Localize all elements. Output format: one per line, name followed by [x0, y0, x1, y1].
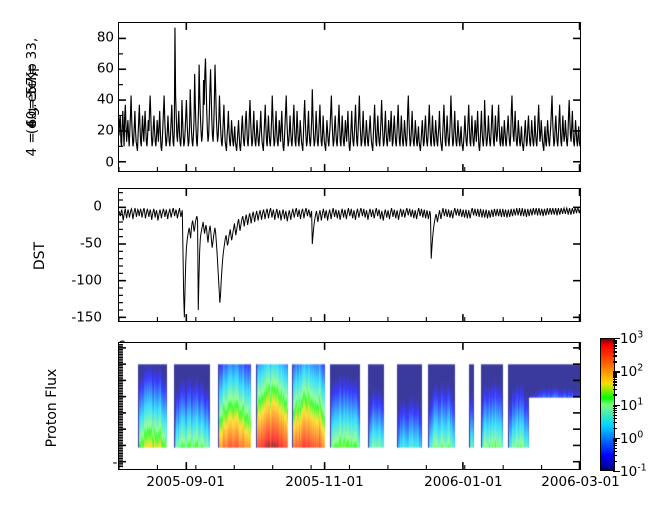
flux-plot-ticks: [119, 343, 580, 469]
colorbar-tick-label: 102: [620, 363, 643, 381]
xtick-label: 2005-11-01: [285, 474, 363, 490]
dst-ytick-labels: 0-50-100-150: [62, 188, 102, 322]
colorbar-minor-tick: [613, 441, 617, 442]
colorbar-minor-tick: [613, 376, 617, 377]
colorbar-minor-tick: [613, 443, 617, 444]
colorbar-tick-label: 10-1: [620, 462, 647, 480]
colorbar-minor-tick: [613, 374, 617, 375]
colorbar-minor-tick: [613, 343, 617, 344]
x-axis-ticklabels: 2005-09-012005-11-012006-01-012006-03-01: [118, 474, 581, 498]
kp-axis-title: Kp (e.g. 3+ = 33, 6- = 57, 4 = 40, etc.): [14, 38, 78, 166]
colorbar-tick-label: 101: [620, 396, 643, 414]
colorbar-minor-tick: [613, 389, 617, 390]
colorbar-minor-tick: [613, 381, 617, 382]
xtick-label: 2005-09-01: [146, 474, 224, 490]
colorbar-ticklabels: 10310210110010-1: [620, 338, 664, 471]
xtick-label: 2006-03-01: [541, 474, 619, 490]
colorbar-minor-tick: [613, 445, 617, 446]
ytick-label: 80: [97, 31, 114, 45]
ytick-label: 60: [97, 62, 114, 76]
colorbar-minor-tick: [613, 408, 617, 409]
panel-flux: [118, 342, 581, 470]
ytick-label: 0: [105, 156, 114, 170]
colorbar-minor-tick: [613, 418, 617, 419]
colorbar-minor-tick: [613, 422, 617, 423]
ytick-label: 0: [93, 200, 102, 214]
colorbar-minor-tick: [613, 355, 617, 356]
panel-dst: [118, 188, 581, 322]
colorbar-minor-tick: [613, 406, 617, 407]
colorbar-minor-tick: [613, 448, 617, 449]
flux-axis-title: Proton Flux: [44, 348, 60, 468]
colorbar-minor-tick: [613, 410, 617, 411]
kp-axis-title-note3: 4 = 40, etc.): [24, 54, 40, 174]
ytick-label: -150: [71, 312, 102, 326]
colorbar-minor-tick: [613, 379, 617, 380]
kp-ytick-labels: 020406080: [74, 22, 114, 172]
colorbar-minor-tick: [613, 461, 617, 462]
colorbar-minor-tick: [613, 428, 617, 429]
colorbar-minor-tick: [613, 345, 617, 346]
ytick-label: -100: [71, 274, 102, 288]
colorbar-major-tick: [613, 471, 620, 472]
colorbar-minor-tick: [613, 373, 617, 374]
colorbar-minor-tick: [613, 341, 617, 342]
colorbar-minor-tick: [613, 361, 617, 362]
panel-kp: [118, 22, 581, 172]
figure-canvas: Kp (e.g. 3+ = 33, 6- = 57, 4 = 40, etc.)…: [0, 0, 665, 523]
ytick-label: 20: [97, 125, 114, 139]
colorbar-minor-tick: [613, 451, 617, 452]
dst-plot-area: [119, 189, 580, 321]
colorbar-minor-tick: [613, 348, 617, 349]
kp-plot-area: [119, 23, 580, 171]
colorbar-minor-tick: [613, 455, 617, 456]
colorbar-minor-tick: [613, 394, 617, 395]
colorbar-tick-label: 100: [620, 429, 643, 447]
xtick-label: 2006-01-01: [424, 474, 502, 490]
colorbar-minor-tick: [613, 384, 617, 385]
colorbar-tick-label: 103: [620, 329, 643, 347]
ytick-label: 40: [97, 93, 114, 107]
colorbar-minor-tick: [613, 415, 617, 416]
colorbar-minor-tick: [613, 351, 617, 352]
colorbar-minor-tick: [613, 439, 617, 440]
ytick-label: -50: [80, 237, 102, 251]
dst-axis-title: DST: [32, 221, 48, 291]
colorbar-minor-tick: [613, 340, 617, 341]
colorbar-minor-tick: [613, 412, 617, 413]
